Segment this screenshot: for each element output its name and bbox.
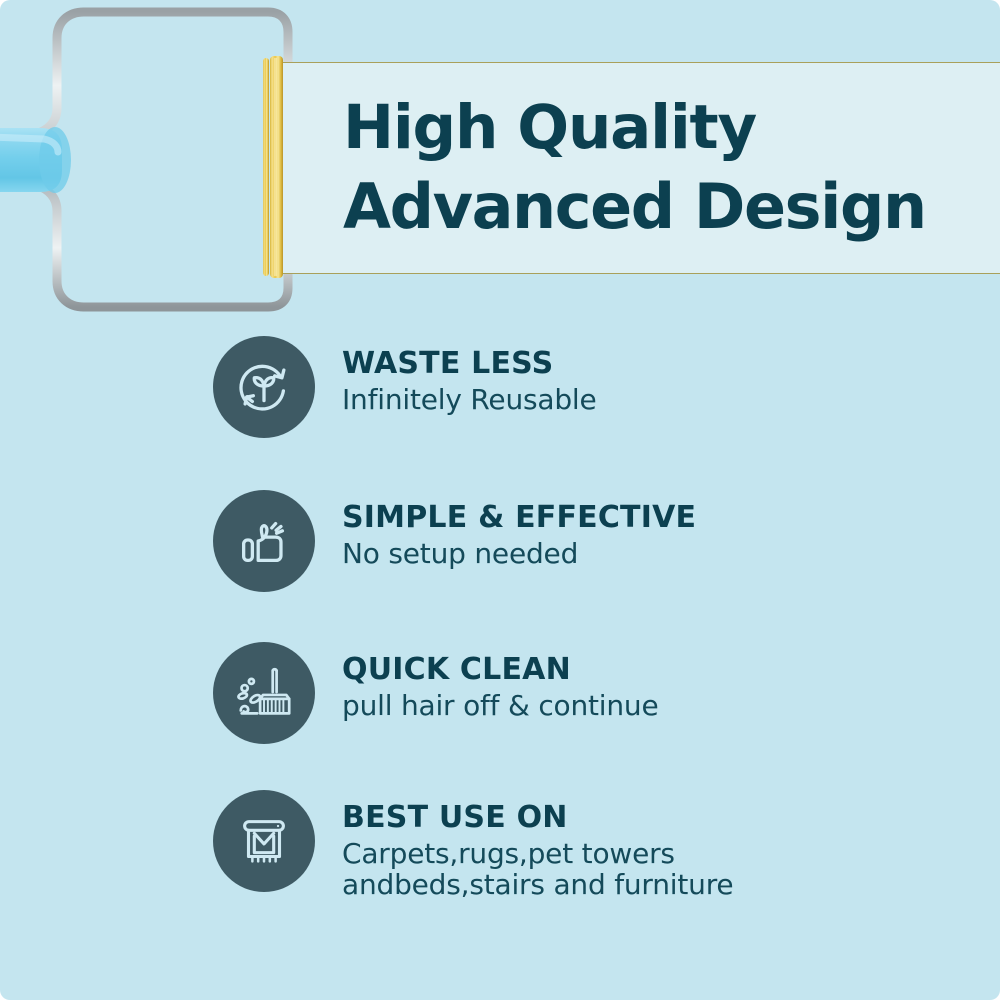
feature-list: WASTE LESS Infinitely Reusable: [213, 336, 973, 901]
title-panel: High Quality Advanced Design: [283, 62, 1000, 274]
feature-row-simple-effective: SIMPLE & EFFECTIVE No setup needed: [213, 490, 973, 592]
tool-handle: [0, 128, 62, 192]
feature-text: SIMPLE & EFFECTIVE No setup needed: [342, 490, 696, 570]
feature-row-quick-clean: QUICK CLEAN pull hair off & continue: [213, 642, 973, 744]
feature-text: BEST USE ON Carpets,rugs,pet towers andb…: [342, 790, 733, 901]
feature-heading: QUICK CLEAN: [342, 653, 659, 687]
tool-handle-collar: [39, 127, 71, 193]
feature-icon-circle: [213, 642, 315, 744]
feature-heading: WASTE LESS: [342, 347, 597, 381]
tool-blade-highlight: [274, 58, 277, 276]
broom-icon: [233, 662, 295, 724]
feature-row-waste-less: WASTE LESS Infinitely Reusable: [213, 336, 973, 438]
feature-subtext: Infinitely Reusable: [342, 383, 597, 416]
recycle-plant-icon: [233, 356, 295, 418]
tool-frame-right: [84, 12, 288, 307]
feature-icon-circle: [213, 336, 315, 438]
tool-frame-left: [20, 12, 84, 307]
feature-subtext-line2: andbeds,stairs and furniture: [342, 868, 733, 901]
infographic-canvas: High Quality Advanced Design: [0, 0, 1000, 1000]
tool-blade: [270, 56, 283, 278]
tool-handle-highlight: [0, 137, 58, 152]
feature-subtext: No setup needed: [342, 537, 696, 570]
title-line-2: Advanced Design: [343, 167, 1000, 246]
feature-heading: SIMPLE & EFFECTIVE: [342, 501, 696, 535]
feature-text: WASTE LESS Infinitely Reusable: [342, 336, 597, 416]
feature-icon-circle: [213, 490, 315, 592]
feature-text: QUICK CLEAN pull hair off & continue: [342, 642, 659, 722]
product-photo: [0, 0, 300, 320]
feature-subtext: pull hair off & continue: [342, 689, 659, 722]
feature-subtext: Carpets,rugs,pet towers: [342, 837, 733, 870]
feature-heading: BEST USE ON: [342, 801, 733, 835]
title-line-1: High Quality: [343, 89, 1000, 167]
feature-icon-circle: [213, 790, 315, 892]
thumbs-up-icon: [233, 510, 295, 572]
feature-row-best-use-on: BEST USE ON Carpets,rugs,pet towers andb…: [213, 790, 973, 901]
tool-blade-back: [263, 58, 269, 276]
carpet-rug-icon: [233, 810, 295, 872]
